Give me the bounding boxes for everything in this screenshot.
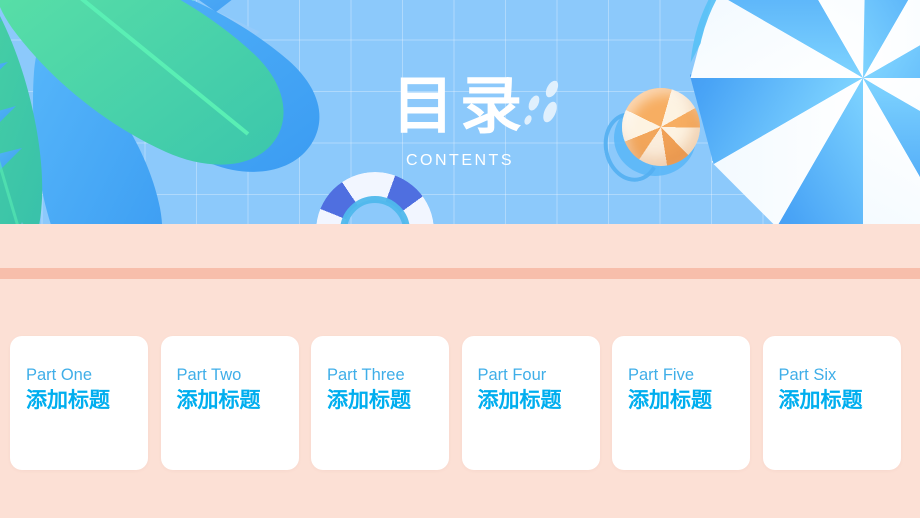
toc-card-part-label: Part Four <box>478 364 600 386</box>
toc-card-5[interactable]: Part Five添加标题 <box>612 336 750 470</box>
title-chinese: 目录 <box>0 72 920 140</box>
toc-card-part-label: Part One <box>26 364 148 386</box>
sand-stripe <box>0 268 920 279</box>
toc-card-title: 添加标题 <box>628 387 750 414</box>
toc-card-title: 添加标题 <box>327 387 449 414</box>
page-title: 目录 CONTENTS <box>0 72 920 170</box>
toc-card-title: 添加标题 <box>478 387 600 414</box>
toc-card-2[interactable]: Part Two添加标题 <box>161 336 299 470</box>
toc-card-part-label: Part Five <box>628 364 750 386</box>
toc-card-part-label: Part Six <box>779 364 901 386</box>
toc-card-list: Part One添加标题Part Two添加标题Part Three添加标题Pa… <box>10 336 910 470</box>
toc-card-6[interactable]: Part Six添加标题 <box>763 336 901 470</box>
toc-card-title: 添加标题 <box>779 387 901 414</box>
title-english: CONTENTS <box>0 152 920 170</box>
toc-card-part-label: Part Three <box>327 364 449 386</box>
toc-card-1[interactable]: Part One添加标题 <box>10 336 148 470</box>
toc-slide: 目录 CONTENTS Part One添加标题Part Two添加标题Part… <box>0 0 920 518</box>
toc-card-title: 添加标题 <box>177 387 299 414</box>
toc-card-title: 添加标题 <box>26 387 148 414</box>
toc-card-part-label: Part Two <box>177 364 299 386</box>
toc-card-3[interactable]: Part Three添加标题 <box>311 336 449 470</box>
toc-card-4[interactable]: Part Four添加标题 <box>462 336 600 470</box>
